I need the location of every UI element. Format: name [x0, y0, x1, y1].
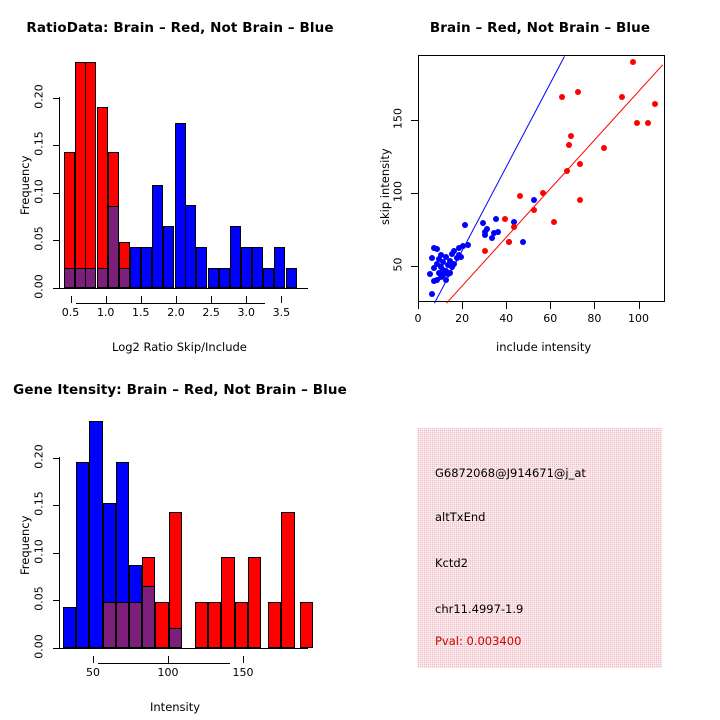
x-tick-mark	[71, 296, 72, 303]
x-tick-label: 40	[484, 312, 528, 325]
histogram-bar	[152, 185, 163, 288]
histogram-bar	[141, 247, 152, 288]
ratio-histogram-y-label: Frequency	[18, 156, 32, 215]
scatter-point	[458, 254, 464, 260]
scatter-point	[429, 291, 435, 297]
histogram-overlap-bar	[129, 602, 142, 648]
histogram-bar	[89, 421, 102, 648]
y-tick-mark	[411, 266, 418, 267]
scatter-point	[447, 270, 453, 276]
scatter-point	[502, 216, 508, 222]
histogram-bar	[76, 462, 89, 648]
scatter-point	[443, 277, 449, 283]
y-tick-label: 0.00	[33, 270, 46, 304]
x-tick-mark	[281, 296, 282, 303]
histogram-bar	[75, 62, 86, 288]
scatter-point	[559, 94, 565, 100]
figure-canvas: RatioData: Brain – Red, Not Brain – Blue…	[0, 0, 720, 720]
scatter-point	[506, 239, 512, 245]
scatter-point	[652, 101, 658, 107]
histogram-bar	[241, 247, 252, 288]
pval-text: Pval: 0.003400	[435, 634, 521, 648]
histogram-overlap-bar	[103, 602, 116, 648]
x-tick-mark	[176, 296, 177, 303]
scatter-point	[482, 248, 488, 254]
histogram-bar	[268, 602, 281, 648]
histogram-bar	[155, 602, 168, 648]
scatter-plot-area	[418, 55, 665, 302]
histogram-bar	[195, 602, 208, 648]
y-tick-label: 0.10	[33, 174, 46, 208]
histogram-overlap-bar	[97, 268, 108, 288]
scatter-point	[619, 94, 625, 100]
scatter-point	[540, 190, 546, 196]
x-tick-label: 50	[71, 666, 115, 679]
x-tick-mark	[506, 302, 507, 309]
y-tick-mark	[53, 505, 60, 506]
histogram-bar	[230, 226, 241, 288]
y-tick-label: 0.20	[33, 79, 46, 113]
histogram-bar	[130, 247, 141, 288]
y-tick-label: 50	[392, 249, 405, 279]
ratio-histogram-x-label: Log2 Ratio Skip/Include	[112, 340, 247, 354]
scatter-point	[645, 120, 651, 126]
histogram-bar	[219, 268, 230, 288]
locus-text: chr11.4997-1.9	[435, 602, 523, 616]
y-tick-mark	[53, 98, 60, 99]
histogram-bar	[196, 247, 207, 288]
scatter-point	[520, 239, 526, 245]
y-tick-label: 0.15	[33, 487, 46, 521]
x-tick-mark	[141, 296, 142, 303]
scatter-title: Brain – Red, Not Brain – Blue	[360, 20, 720, 36]
scatter-point	[601, 145, 607, 151]
y-tick-mark	[53, 458, 60, 459]
y-tick-label: 0.10	[33, 534, 46, 568]
y-tick-mark	[53, 553, 60, 554]
y-tick-mark	[53, 145, 60, 146]
scatter-point	[511, 224, 517, 230]
histogram-overlap-bar	[64, 268, 75, 288]
y-tick-label: 100	[392, 177, 405, 207]
scatter-point	[577, 197, 583, 203]
scatter-point	[517, 193, 523, 199]
scatter-y-label: skip intensity	[378, 148, 392, 225]
ratio-histogram-x-baseline	[60, 288, 308, 289]
y-tick-mark	[53, 648, 60, 649]
scatter-point	[462, 222, 468, 228]
histogram-bar	[263, 268, 274, 288]
y-tick-label: 0.05	[33, 222, 46, 256]
gene-histogram-title: Gene Itensity: Brain – Red, Not Brain – …	[0, 382, 360, 398]
x-tick-label: 0	[396, 312, 440, 325]
y-tick-mark	[53, 240, 60, 241]
scatter-x-label: include intensity	[496, 340, 591, 354]
histogram-overlap-bar	[75, 268, 86, 288]
histogram-bar	[185, 205, 196, 288]
x-tick-mark	[243, 656, 244, 663]
x-tick-mark	[106, 296, 107, 303]
histogram-bar	[85, 62, 96, 288]
ratio-histogram-x-axis	[76, 303, 265, 304]
scatter-point	[575, 89, 581, 95]
y-tick-label: 0.00	[33, 630, 46, 664]
gene-info-panel: G6872068@J914671@j_at altTxEnd Kctd2 chr…	[417, 428, 662, 668]
y-tick-mark	[53, 193, 60, 194]
x-tick-label: 100	[617, 312, 661, 325]
regression-line	[446, 65, 663, 304]
histogram-bar	[281, 512, 294, 648]
y-tick-mark	[53, 600, 60, 601]
histogram-bar	[208, 602, 221, 648]
scatter-point	[465, 242, 471, 248]
x-tick-label: 20	[440, 312, 484, 325]
x-tick-mark	[93, 656, 94, 663]
histogram-bar	[175, 123, 186, 289]
scatter-point	[429, 255, 435, 261]
gene-histogram-x-baseline	[60, 648, 308, 649]
scatter-point	[495, 229, 501, 235]
scatter-point	[434, 246, 440, 252]
y-tick-mark	[53, 288, 60, 289]
scatter-point	[484, 226, 490, 232]
gene-histogram-y-label: Frequency	[18, 516, 32, 575]
histogram-overlap-bar	[142, 586, 155, 648]
x-tick-label: 80	[572, 312, 616, 325]
scatter-point	[427, 271, 433, 277]
x-tick-label: 100	[146, 666, 190, 679]
scatter-point	[564, 168, 570, 174]
histogram-overlap-bar	[85, 268, 96, 288]
scatter-point	[551, 219, 557, 225]
x-tick-mark	[462, 302, 463, 309]
histogram-bar	[286, 268, 297, 288]
gene-symbol-text: Kctd2	[435, 556, 468, 570]
event-type-text: altTxEnd	[435, 510, 485, 524]
scatter-point	[531, 207, 537, 213]
scatter-point	[630, 59, 636, 65]
x-tick-label: 3.5	[259, 306, 303, 319]
scatter-point	[566, 142, 572, 148]
histogram-bar	[221, 557, 234, 648]
histogram-overlap-bar	[169, 628, 182, 648]
panel-ratio-histogram: RatioData: Brain – Red, Not Brain – Blue…	[0, 0, 360, 360]
panel-gene-intensity-histogram: Gene Itensity: Brain – Red, Not Brain – …	[0, 360, 360, 720]
ratio-histogram-plot-area	[60, 55, 306, 288]
histogram-bar	[208, 268, 219, 288]
x-tick-mark	[550, 302, 551, 309]
histogram-overlap-bar	[116, 602, 129, 648]
x-tick-label: 150	[221, 666, 265, 679]
probe-id-text: G6872068@J914671@j_at	[435, 466, 586, 480]
histogram-overlap-bar	[119, 268, 130, 288]
scatter-point	[531, 197, 537, 203]
histogram-bar	[97, 107, 108, 288]
ratio-histogram-title: RatioData: Brain – Red, Not Brain – Blue	[0, 20, 360, 36]
histogram-bar	[235, 602, 248, 648]
x-tick-mark	[168, 656, 169, 663]
histogram-bar	[163, 226, 174, 288]
scatter-point	[634, 120, 640, 126]
scatter-point	[451, 261, 457, 267]
y-tick-label: 0.15	[33, 127, 46, 161]
scatter-point	[493, 216, 499, 222]
gene-histogram-x-label: Intensity	[150, 700, 200, 714]
histogram-bar	[248, 557, 261, 648]
x-tick-mark	[246, 296, 247, 303]
x-tick-mark	[594, 302, 595, 309]
histogram-bar	[252, 247, 263, 288]
gene-histogram-plot-area	[60, 415, 306, 648]
y-tick-label: 0.20	[33, 439, 46, 473]
y-tick-mark	[411, 193, 418, 194]
scatter-point	[577, 161, 583, 167]
x-tick-label: 60	[528, 312, 572, 325]
y-tick-label: 0.05	[33, 582, 46, 616]
histogram-bar	[274, 247, 285, 288]
x-tick-mark	[418, 302, 419, 309]
y-tick-label: 150	[392, 104, 405, 134]
scatter-point	[568, 133, 574, 139]
panel-intensity-scatter: Brain – Red, Not Brain – Blue 50100150 s…	[360, 0, 720, 360]
x-tick-mark	[639, 302, 640, 309]
histogram-overlap-bar	[108, 206, 119, 288]
gene-histogram-x-axis	[98, 663, 230, 664]
y-tick-mark	[411, 120, 418, 121]
x-tick-mark	[211, 296, 212, 303]
histogram-bar	[300, 602, 313, 648]
histogram-bar	[63, 607, 76, 648]
